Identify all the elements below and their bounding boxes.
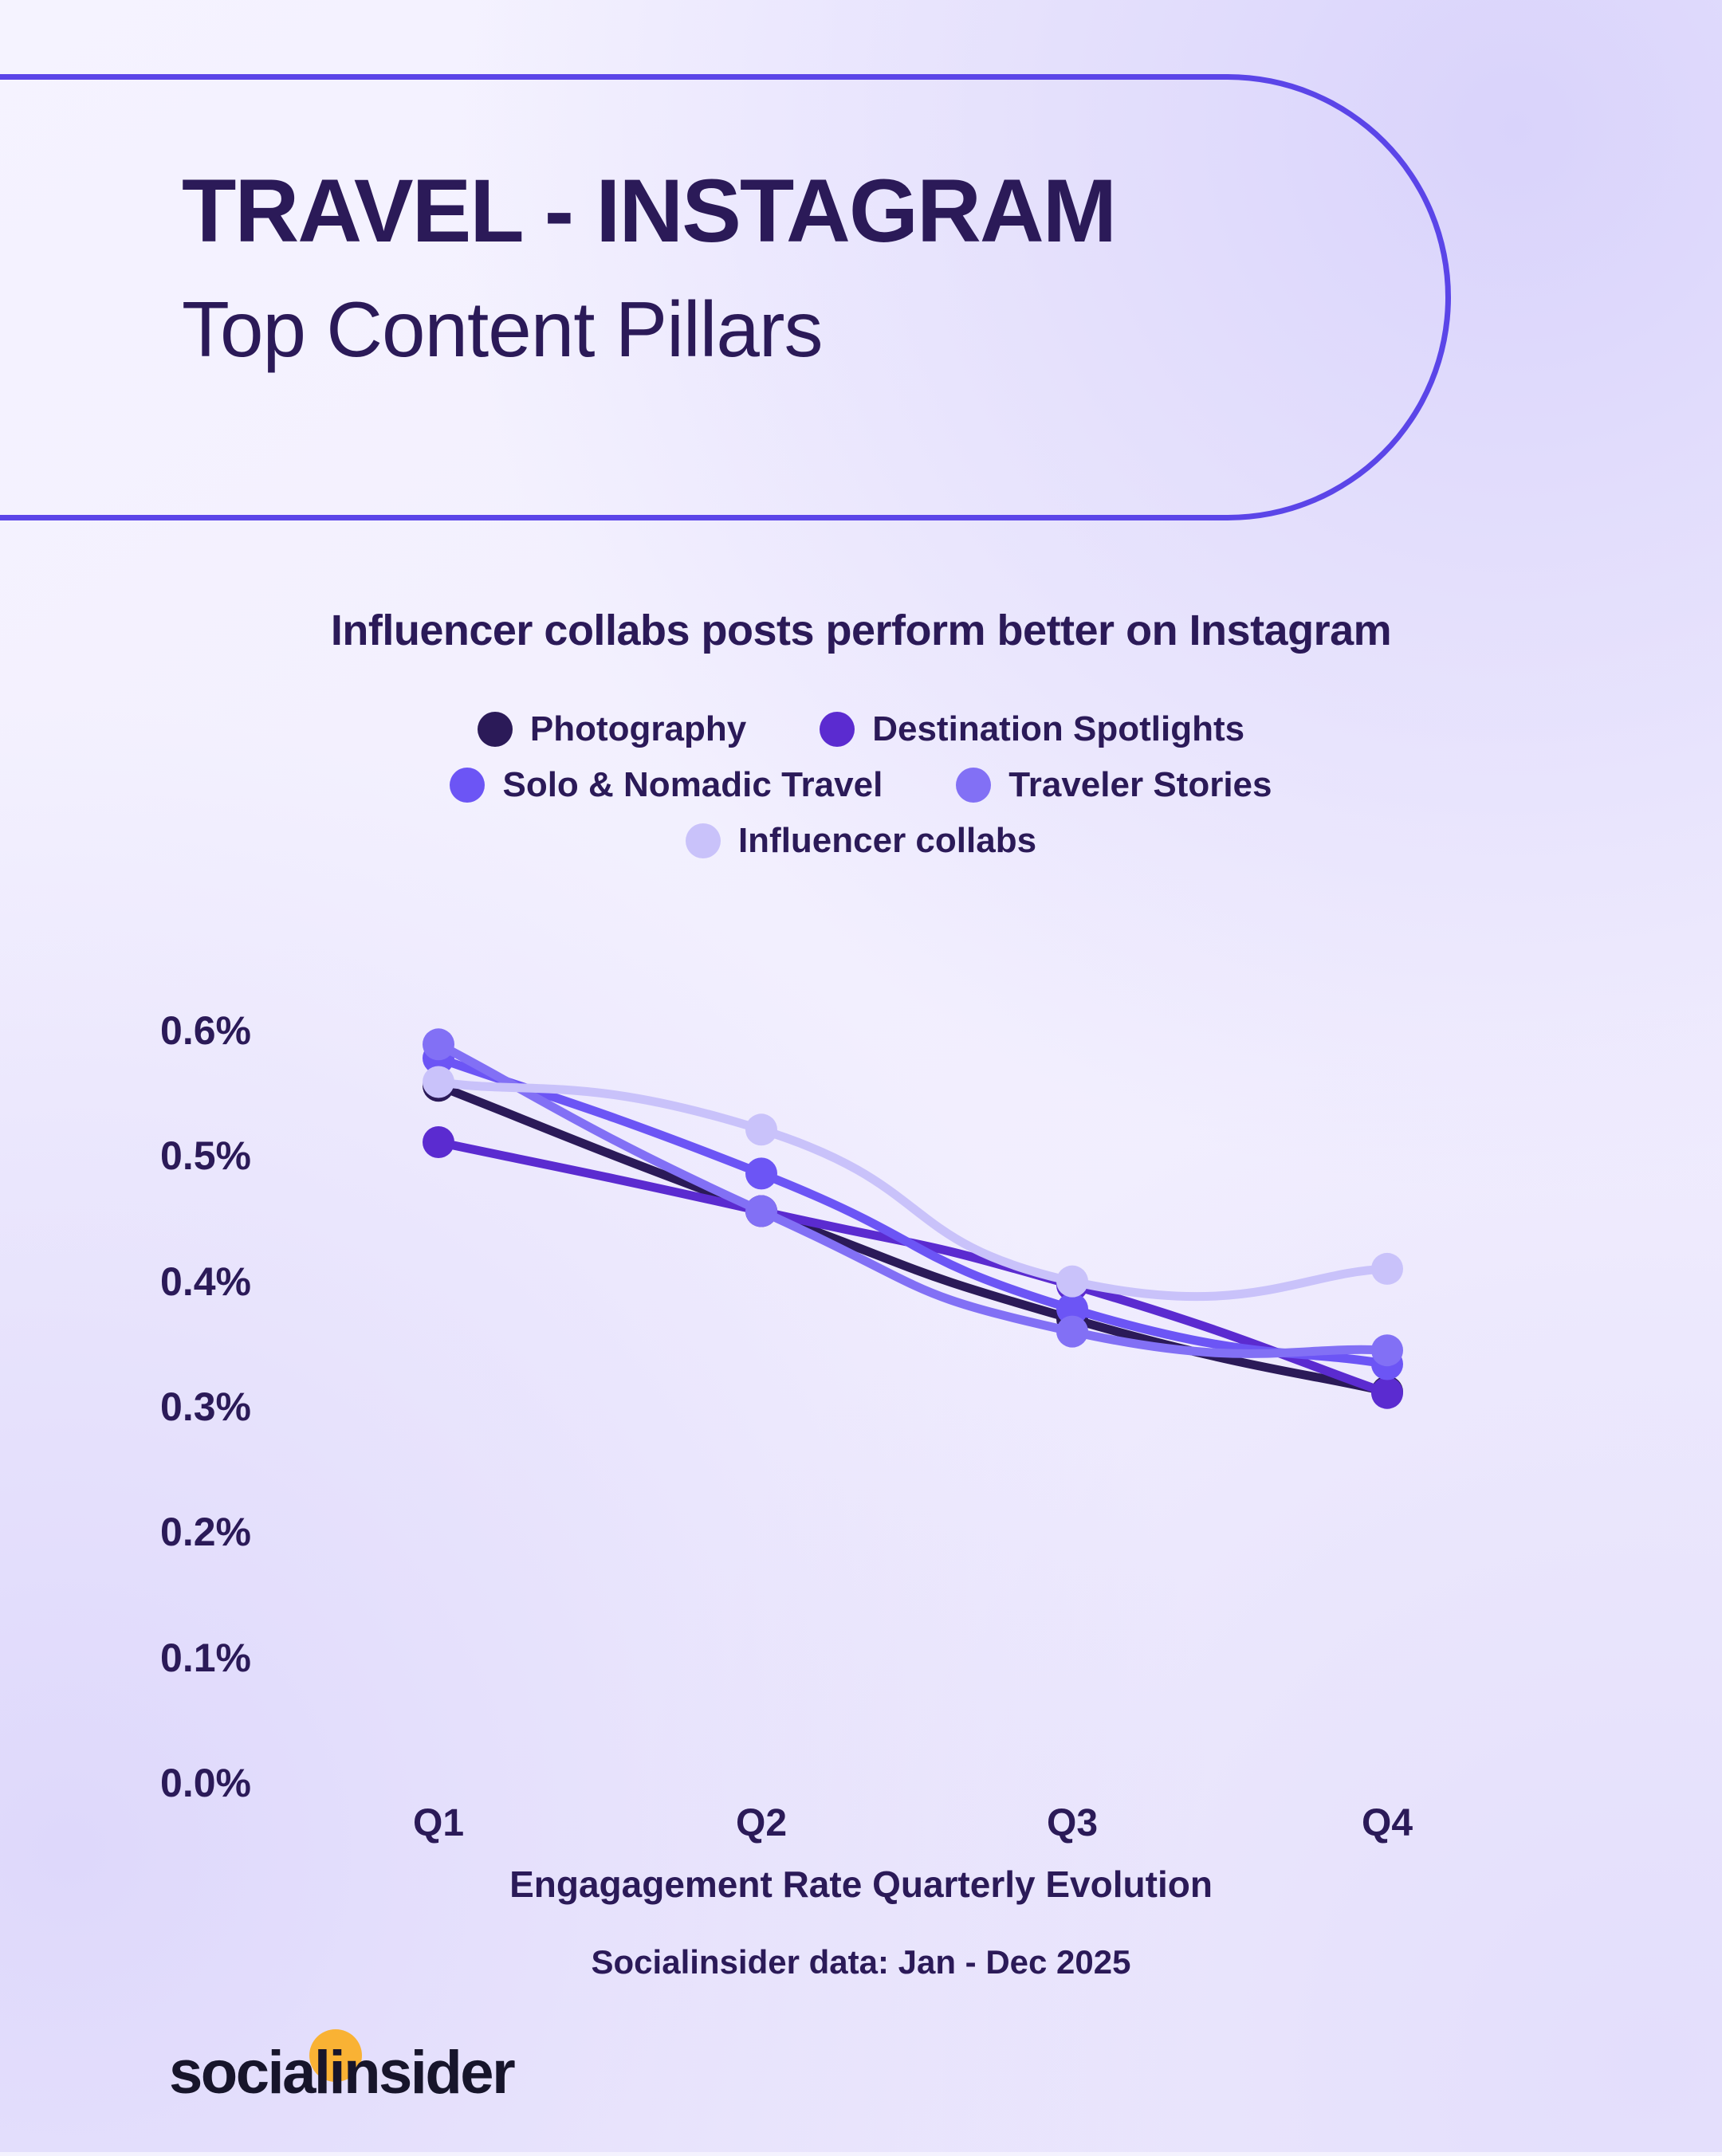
- series-line: [438, 1142, 1387, 1393]
- legend-item-photography[interactable]: Photography: [478, 709, 746, 749]
- series-data-point[interactable]: [1371, 1377, 1403, 1409]
- x-axis-tick-label: Q4: [1362, 1801, 1413, 1845]
- series-data-point[interactable]: [423, 1070, 454, 1102]
- y-axis-tick-label: 0.3%: [160, 1384, 251, 1430]
- series-data-point[interactable]: [745, 1196, 777, 1227]
- legend-dot-icon: [686, 823, 721, 858]
- series-data-point[interactable]: [745, 1196, 777, 1227]
- series-data-point[interactable]: [1056, 1316, 1088, 1348]
- series-data-point[interactable]: [1371, 1334, 1403, 1366]
- x-axis-tick-label: Q3: [1047, 1801, 1098, 1845]
- legend-row-2: Solo & Nomadic Travel Traveler Stories: [0, 765, 1722, 805]
- legend-label: Photography: [530, 709, 746, 749]
- series-data-point[interactable]: [1371, 1349, 1403, 1380]
- legend-item-influencer-collabs[interactable]: Influencer collabs: [686, 821, 1036, 861]
- legend-item-destination-spotlights[interactable]: Destination Spotlights: [820, 709, 1244, 749]
- series-data-point[interactable]: [1056, 1269, 1088, 1301]
- legend-dot-icon: [478, 712, 513, 747]
- y-axis-tick-label: 0.5%: [160, 1133, 251, 1179]
- y-axis-tick-label: 0.6%: [160, 1007, 251, 1054]
- infographic-page: TRAVEL - INSTAGRAM Top Content Pillars I…: [0, 0, 1722, 2152]
- series-line: [438, 1082, 1387, 1297]
- series-data-point[interactable]: [1056, 1303, 1088, 1335]
- legend-label: Destination Spotlights: [872, 709, 1244, 749]
- legend-row-1: Photography Destination Spotlights: [0, 709, 1722, 749]
- series-data-point[interactable]: [745, 1196, 777, 1227]
- series-data-point[interactable]: [1371, 1376, 1403, 1408]
- y-axis-tick-label: 0.0%: [160, 1760, 251, 1806]
- y-axis-tick-label: 0.1%: [160, 1635, 251, 1681]
- legend-label: Influencer collabs: [738, 821, 1036, 861]
- legend-item-traveler-stories[interactable]: Traveler Stories: [956, 765, 1272, 805]
- legend-dot-icon: [450, 768, 485, 803]
- series-line: [438, 1044, 1387, 1353]
- series-line: [438, 1086, 1387, 1392]
- legend-item-solo-nomadic-travel[interactable]: Solo & Nomadic Travel: [450, 765, 883, 805]
- x-axis-label: Engagagement Rate Quarterly Evolution: [0, 1863, 1722, 1906]
- series-data-point[interactable]: [423, 1066, 454, 1098]
- x-axis-tick-label: Q2: [736, 1801, 787, 1845]
- legend-dot-icon: [956, 768, 991, 803]
- series-line: [438, 1058, 1387, 1365]
- series-data-point[interactable]: [423, 1126, 454, 1158]
- series-data-point[interactable]: [745, 1157, 777, 1189]
- socialinsider-logo: socialinsider: [169, 2034, 513, 2111]
- series-data-point[interactable]: [1056, 1293, 1088, 1325]
- series-data-point[interactable]: [1056, 1266, 1088, 1298]
- page-title: TRAVEL - INSTAGRAM: [182, 166, 1115, 257]
- y-axis-tick-label: 0.4%: [160, 1259, 251, 1305]
- chart-legend: Photography Destination Spotlights Solo …: [0, 709, 1722, 877]
- x-axis-tick-label: Q1: [413, 1801, 464, 1845]
- series-data-point[interactable]: [1371, 1253, 1403, 1285]
- series-data-point[interactable]: [423, 1043, 454, 1074]
- legend-label: Traveler Stories: [1008, 765, 1272, 805]
- source-note: Socialinsider data: Jan - Dec 2025: [0, 1943, 1722, 1981]
- y-axis-tick-label: 0.2%: [160, 1509, 251, 1555]
- series-data-point[interactable]: [745, 1113, 777, 1145]
- legend-row-3: Influencer collabs: [0, 821, 1722, 861]
- legend-dot-icon: [820, 712, 855, 747]
- series-data-point[interactable]: [423, 1028, 454, 1060]
- logo-wordmark: socialinsider: [169, 2038, 513, 2107]
- page-subtitle: Top Content Pillars: [182, 289, 823, 371]
- chart-title: Influencer collabs posts perform better …: [0, 606, 1722, 655]
- legend-label: Solo & Nomadic Travel: [502, 765, 883, 805]
